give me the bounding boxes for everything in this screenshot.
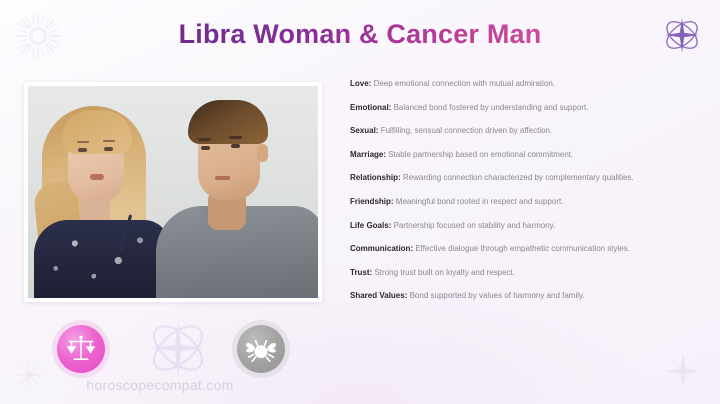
- attribute-label: Emotional:: [350, 103, 391, 112]
- attribute-label: Sexual:: [350, 126, 378, 135]
- attribute-text: Effective dialogue through empathetic co…: [415, 244, 630, 253]
- attribute-label: Friendship:: [350, 197, 394, 206]
- attribute-label: Life Goals:: [350, 221, 391, 230]
- attribute-text: Rewarding connection characterized by co…: [403, 173, 634, 182]
- site-watermark: horoscopecompat.com: [0, 377, 320, 393]
- attribute-row: Relationship: Rewarding connection chara…: [350, 172, 700, 183]
- attribute-text: Partnership focused on stability and har…: [394, 221, 556, 230]
- attribute-row: Shared Values: Bond supported by values …: [350, 290, 700, 301]
- page-title-container: Libra Woman & Cancer Man: [0, 19, 720, 50]
- attribute-text: Fulfilling, sensual connection driven by…: [381, 126, 553, 135]
- attribute-label: Love:: [350, 79, 371, 88]
- attribute-text: Stable partnership based on emotional co…: [388, 150, 573, 159]
- attribute-row: Marriage: Stable partnership based on em…: [350, 149, 700, 160]
- attribute-label: Relationship:: [350, 173, 401, 182]
- attribute-text: Meaningful bond rooted in respect and su…: [396, 197, 564, 206]
- attribute-row: Communication: Effective dialogue throug…: [350, 243, 700, 254]
- page-title: Libra Woman & Cancer Man: [179, 19, 542, 50]
- compatibility-card: Libra Woman & Cancer Man: [0, 0, 720, 404]
- attribute-row: Love: Deep emotional connection with mut…: [350, 78, 700, 89]
- couple-photo: [24, 82, 322, 302]
- attribute-row: Life Goals: Partnership focused on stabi…: [350, 220, 700, 231]
- compatibility-attributes-list: Love: Deep emotional connection with mut…: [350, 78, 700, 314]
- attribute-row: Friendship: Meaningful bond rooted in re…: [350, 196, 700, 207]
- cancer-crab-icon: [244, 332, 278, 366]
- libra-scales-icon: [64, 332, 98, 366]
- attribute-label: Shared Values:: [350, 291, 407, 300]
- attribute-row: Sexual: Fulfilling, sensual connection d…: [350, 125, 700, 136]
- attribute-label: Communication:: [350, 244, 413, 253]
- attribute-text: Strong trust built on loyalty and respec…: [374, 268, 515, 277]
- badge-cancer[interactable]: [237, 325, 285, 373]
- attribute-text: Balanced bond fostered by understanding …: [394, 103, 589, 112]
- attribute-text: Bond supported by values of harmony and …: [410, 291, 585, 300]
- attribute-label: Trust:: [350, 268, 372, 277]
- couple-photo-image: [28, 86, 318, 298]
- badge-libra[interactable]: [57, 325, 105, 373]
- attribute-text: Deep emotional connection with mutual ad…: [374, 79, 555, 88]
- atom-star-icon: [140, 318, 216, 378]
- attribute-row: Trust: Strong trust built on loyalty and…: [350, 267, 700, 278]
- attribute-label: Marriage:: [350, 150, 386, 159]
- attribute-row: Emotional: Balanced bond fostered by und…: [350, 102, 700, 113]
- sparkle-icon: [664, 352, 702, 390]
